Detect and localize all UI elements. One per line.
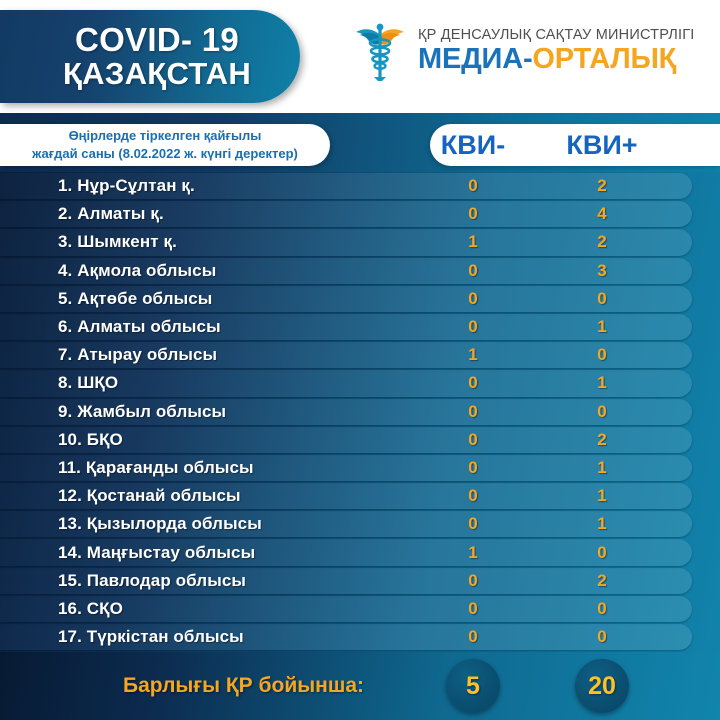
table-row: 10. БҚО02 [0,426,720,454]
region-kvi-positive-value: 1 [597,373,606,393]
infographic-page: COVID- 19 ҚАЗАҚСТАН [0,0,720,720]
region-kvi-positive-value: 1 [597,514,606,534]
region-kvi-negative-value: 1 [468,345,477,365]
region-name: 7. Атырау облысы [58,345,217,365]
total-kvi-negative-value: 5 [466,672,480,701]
logo-media-word: МЕДИА [418,43,523,75]
region-name: 6. Алматы облысы [58,317,221,337]
region-kvi-positive-value: 1 [597,458,606,478]
region-kvi-negative-value: 1 [468,232,477,252]
region-name: 17. Түркістан облысы [58,627,244,647]
region-kvi-negative-value: 0 [468,176,477,196]
region-kvi-negative-value: 0 [468,458,477,478]
region-name: 8. ШҚО [58,373,118,393]
region-kvi-positive-value: 1 [597,317,606,337]
table-row: 17. Түркістан облысы00 [0,623,720,651]
page-title-secondary: ҚАЗАҚСТАН [63,57,251,90]
table-row: 6. Алматы облысы01 [0,313,720,341]
table-row: 12. Қостанай облысы01 [0,482,720,510]
subtitle-line-1: Өңірлерде тіркелген қайғылы [69,127,262,145]
subtitle-banner: Өңірлерде тіркелген қайғылы жағдай саны … [0,124,330,166]
region-kvi-positive-value: 0 [597,627,606,647]
region-kvi-negative-value: 0 [468,486,477,506]
region-name: 9. Жамбыл облысы [58,402,226,422]
column-header-kvi-positive: КВИ+ [566,130,637,161]
table-row: 3. Шымкент қ.12 [0,228,720,256]
table-row: 5. Ақтөбе облысы00 [0,285,720,313]
logo-media-dash: - [523,43,532,75]
media-center-name: МЕДИА-ОРТАЛЫҚ [418,44,695,74]
region-kvi-negative-value: 0 [468,373,477,393]
subtitle-line-2: жағдай саны (8.02.2022 ж. күнгі деректер… [32,145,298,163]
ministry-name: ҚР ДЕНСАУЛЫҚ САҚТАУ МИНИСТРЛІГІ [418,27,695,43]
region-name: 13. Қызылорда облысы [58,514,262,534]
region-name: 11. Қарағанды облысы [58,458,254,478]
table-row: 16. СҚО00 [0,595,720,623]
table-row: 11. Қарағанды облысы01 [0,454,720,482]
table-row: 14. Маңғыстау облысы10 [0,538,720,566]
region-kvi-positive-value: 3 [597,261,606,281]
totals-label: Барлығы ҚР бойынша: [123,674,364,698]
region-kvi-negative-value: 0 [468,289,477,309]
region-name: 4. Ақмола облысы [58,261,216,281]
region-table: 1. Нұр-Сұлтан қ.022. Алматы қ.043. Шымке… [0,172,720,652]
region-name: 10. БҚО [58,430,123,450]
region-name: 1. Нұр-Сұлтан қ. [58,176,195,196]
region-name: 5. Ақтөбе облысы [58,289,212,309]
region-kvi-positive-value: 0 [597,599,606,619]
region-kvi-negative-value: 0 [468,261,477,281]
table-row: 1. Нұр-Сұлтан қ.02 [0,172,720,200]
totals-footer: Барлығы ҚР бойынша: 5 20 [0,652,720,720]
region-kvi-negative-value: 0 [468,430,477,450]
region-kvi-positive-value: 1 [597,486,606,506]
region-kvi-positive-value: 2 [597,430,606,450]
header-band: COVID- 19 ҚАЗАҚСТАН [0,0,720,113]
table-row: 13. Қызылорда облысы01 [0,510,720,538]
region-name: 2. Алматы қ. [58,204,164,224]
region-kvi-negative-value: 1 [468,543,477,563]
region-kvi-negative-value: 0 [468,627,477,647]
column-header-banner: КВИ- КВИ+ [430,124,720,166]
table-row: 4. Ақмола облысы03 [0,257,720,285]
region-name: 3. Шымкент қ. [58,232,177,252]
ministry-logo: ҚР ДЕНСАУЛЫҚ САҚТАУ МИНИСТРЛІГІ МЕДИА-ОР… [352,20,695,82]
region-name: 15. Павлодар облысы [58,571,246,591]
region-kvi-positive-value: 0 [597,543,606,563]
table-row: 9. Жамбыл облысы00 [0,398,720,426]
table-row: 15. Павлодар облысы02 [0,567,720,595]
table-row: 7. Атырау облысы10 [0,341,720,369]
column-header-kvi-negative: КВИ- [441,130,505,161]
region-kvi-positive-value: 0 [597,289,606,309]
region-kvi-positive-value: 2 [597,176,606,196]
total-kvi-negative: 5 [446,659,500,713]
logo-text-block: ҚР ДЕНСАУЛЫҚ САҚТАУ МИНИСТРЛІГІ МЕДИА-ОР… [418,27,695,74]
page-title-primary: COVID- 19 [75,23,239,57]
region-name: 14. Маңғыстау облысы [58,543,255,563]
table-row: 8. ШҚО01 [0,369,720,397]
region-kvi-positive-value: 2 [597,571,606,591]
region-kvi-negative-value: 0 [468,317,477,337]
logo-orталык-word: ОРТАЛЫҚ [532,43,676,75]
region-kvi-positive-value: 0 [597,402,606,422]
region-kvi-positive-value: 4 [597,204,606,224]
region-kvi-negative-value: 0 [468,571,477,591]
region-kvi-negative-value: 0 [468,402,477,422]
title-banner: COVID- 19 ҚАЗАҚСТАН [0,10,300,103]
region-kvi-negative-value: 0 [468,204,477,224]
region-name: 16. СҚО [58,599,123,619]
caduceus-icon [352,20,408,82]
table-row: 2. Алматы қ.04 [0,200,720,228]
region-kvi-negative-value: 0 [468,514,477,534]
region-kvi-positive-value: 0 [597,345,606,365]
region-name: 12. Қостанай облысы [58,486,241,506]
total-kvi-positive: 20 [575,659,629,713]
total-kvi-positive-value: 20 [588,672,616,701]
region-kvi-positive-value: 2 [597,232,606,252]
region-kvi-negative-value: 0 [468,599,477,619]
